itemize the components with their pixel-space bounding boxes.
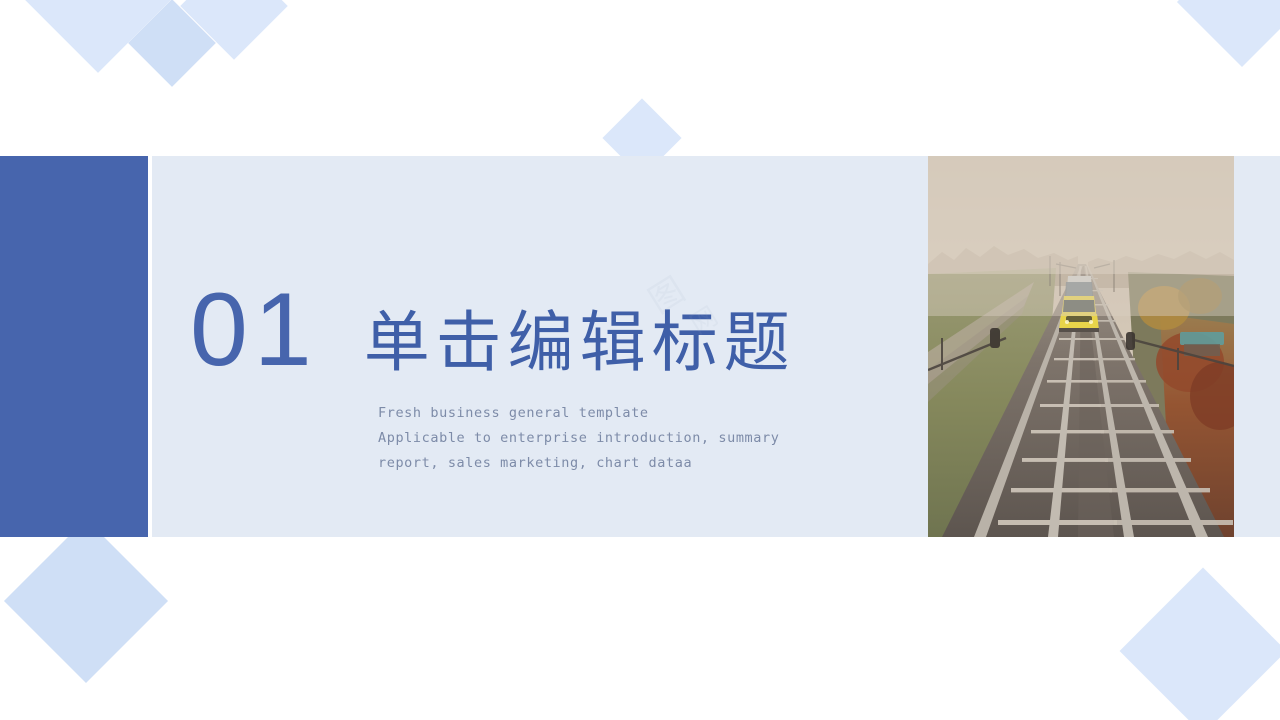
decorative-diamond-bottom-left (4, 519, 168, 683)
subtitle-block: Fresh business general template Applicab… (378, 401, 898, 476)
accent-bar-left (0, 156, 148, 537)
slide-canvas: 01 单击编辑标题 Fresh business general templat… (0, 0, 1280, 720)
decorative-diamond-top-right (1177, 0, 1280, 67)
decorative-diamond-bottom-right (1120, 568, 1280, 720)
content-band: 01 单击编辑标题 Fresh business general templat… (0, 156, 1280, 537)
section-number: 01 (190, 278, 318, 382)
subtitle-line-1: Fresh business general template (378, 401, 898, 426)
subtitle-line-3: report, sales marketing, chart dataa (378, 451, 898, 476)
railway-photo (928, 156, 1234, 537)
page-title: 单击编辑标题 (364, 310, 796, 376)
subtitle-line-2: Applicable to enterprise introduction, s… (378, 426, 898, 451)
headline-row: 01 单击编辑标题 (190, 278, 796, 382)
